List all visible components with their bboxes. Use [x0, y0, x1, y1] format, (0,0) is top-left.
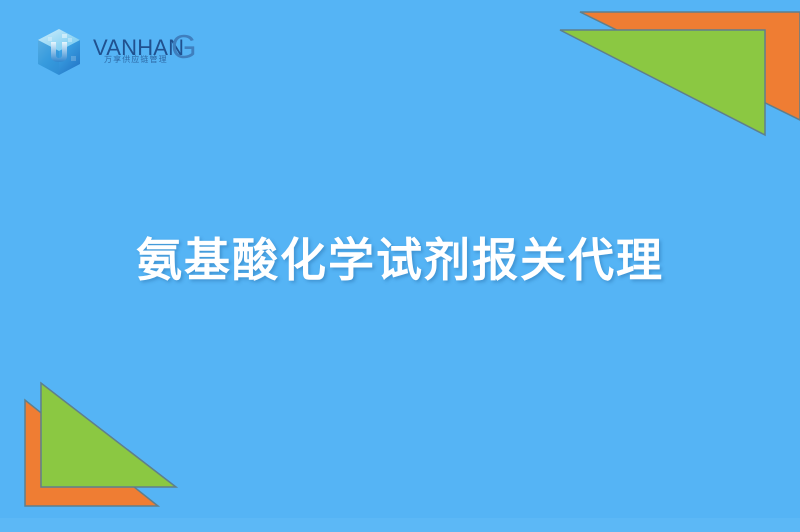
orange-triangle — [580, 12, 800, 120]
page-title: 氨基酸化学试剂报关代理 — [0, 234, 800, 287]
company-logo: VANHAN G 万享供应链管理 — [34, 26, 201, 78]
decoration-top-right — [550, 0, 800, 200]
vanhang-cube-logo-icon — [34, 26, 84, 78]
orange-triangle — [25, 400, 158, 506]
green-triangle — [560, 30, 765, 135]
logo-subtitle: 万享供应链管理 — [104, 56, 168, 64]
decoration-bottom-left — [0, 332, 250, 532]
green-triangle — [41, 383, 176, 487]
logo-wordmark-tail: G — [171, 30, 197, 63]
slide-canvas: VANHAN G 万享供应链管理 氨基酸化学试剂报关代理 — [0, 0, 800, 532]
bottom-band — [0, 518, 800, 532]
logo-wordmark-group: VANHAN G 万享供应链管理 — [93, 32, 201, 72]
